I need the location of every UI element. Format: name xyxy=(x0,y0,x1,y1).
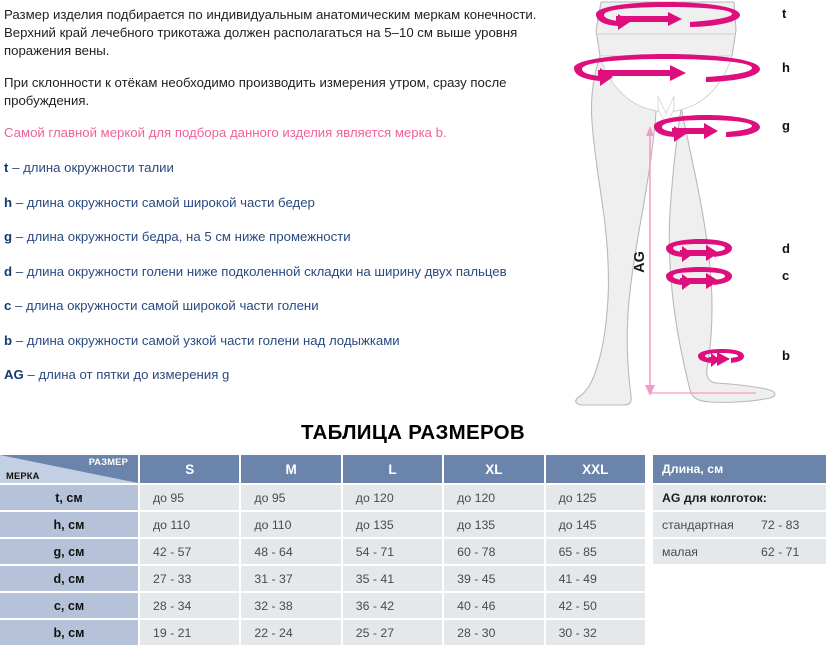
legend-dash-b: – xyxy=(16,333,23,348)
cell-c-xxl: 42 - 50 xyxy=(544,591,645,618)
table-row: g, см 42 - 57 48 - 64 54 - 71 60 - 78 65… xyxy=(0,537,645,564)
column-header-l: L xyxy=(341,455,442,483)
legend-dash-h: – xyxy=(16,195,23,210)
cell-t-s: до 95 xyxy=(138,483,239,510)
legend-text-c: длина окружности самой широкой части гол… xyxy=(26,298,319,313)
length-table-header-row: Длина, см xyxy=(653,455,826,483)
cell-h-l: до 135 xyxy=(341,510,442,537)
legend-text-g: длина окружности бедра, на 5 см ниже про… xyxy=(27,229,351,244)
cell-c-xl: 40 - 46 xyxy=(442,591,543,618)
legend-text-ag: длина от пятки до измерения g xyxy=(38,367,229,382)
illustration-label-t: t xyxy=(782,6,786,21)
illustration-label-h: h xyxy=(782,60,790,75)
cell-g-xxl: 65 - 85 xyxy=(544,537,645,564)
intro-paragraph-2: При склонности к отёкам необходимо произ… xyxy=(4,74,582,110)
corner-size-label: РАЗМЕР xyxy=(89,457,128,467)
illustration-label-b: b xyxy=(782,348,790,363)
cell-b-m: 22 - 24 xyxy=(239,618,340,645)
table-row: b, см 19 - 21 22 - 24 25 - 27 28 - 30 30… xyxy=(0,618,645,645)
legend-text-d: длина окружности голени ниже подколенной… xyxy=(27,264,507,279)
cell-t-xl: до 120 xyxy=(442,483,543,510)
table-row: h, см до 110 до 110 до 135 до 135 до 145 xyxy=(0,510,645,537)
cell-t-xxl: до 125 xyxy=(544,483,645,510)
legend-item-t: t – длина окружности талии xyxy=(4,160,592,176)
row-label-b: b, см xyxy=(0,618,138,645)
legend-dash-ag: – xyxy=(27,367,34,382)
legend-item-d: d – длина окружности голени ниже подколе… xyxy=(4,264,592,280)
table-row: d, см 27 - 33 31 - 37 35 - 41 39 - 45 41… xyxy=(0,564,645,591)
cell-b-xxl: 30 - 32 xyxy=(544,618,645,645)
cell-b-xl: 28 - 30 xyxy=(442,618,543,645)
length-row-small-name: малая xyxy=(653,537,757,564)
table-header-row: РАЗМЕР МЕРКА S M L XL XXL xyxy=(0,455,645,483)
cell-g-s: 42 - 57 xyxy=(138,537,239,564)
cell-d-xxl: 41 - 49 xyxy=(544,564,645,591)
measure-arrow-g xyxy=(654,115,760,142)
cell-c-s: 28 - 34 xyxy=(138,591,239,618)
length-table-row: AG для колготок: xyxy=(653,483,826,510)
length-row-standard-value: 72 - 83 xyxy=(757,510,826,537)
leg-measurement-illustration: AG xyxy=(560,0,826,412)
page-title: ТАБЛИЦА РАЗМЕРОВ xyxy=(0,421,826,445)
column-header-xxl: XXL xyxy=(544,455,645,483)
legend-dash-g: – xyxy=(16,229,23,244)
intro-paragraph-highlight: Самой главной меркой для подбора данного… xyxy=(4,124,582,142)
cell-h-xxl: до 145 xyxy=(544,510,645,537)
length-row-standard-name: стандартная xyxy=(653,510,757,537)
column-header-m: M xyxy=(239,455,340,483)
legend-item-b: b – длина окружности самой узкой части г… xyxy=(4,333,592,349)
intro-paragraph-1: Размер изделия подбирается по индивидуал… xyxy=(4,6,582,60)
length-table-header: Длина, см xyxy=(653,455,826,483)
legend-key-g: g xyxy=(4,229,12,244)
legend-text-h: длина окружности самой широкой части бед… xyxy=(27,195,315,210)
cell-b-l: 25 - 27 xyxy=(341,618,442,645)
legend-item-h: h – длина окружности самой широкой части… xyxy=(4,195,592,211)
row-label-d: d, см xyxy=(0,564,138,591)
info-section: Размер изделия подбирается по индивидуал… xyxy=(0,0,826,412)
cell-t-l: до 120 xyxy=(341,483,442,510)
legend-key-b: b xyxy=(4,333,12,348)
cell-d-xl: 39 - 45 xyxy=(442,564,543,591)
legend-dash-d: – xyxy=(16,264,23,279)
legend-item-g: g – длина окружности бедра, на 5 см ниже… xyxy=(4,229,592,245)
illustration-label-d: d xyxy=(782,241,790,256)
legend-text-b: длина окружности самой узкой части голен… xyxy=(27,333,400,348)
cell-t-m: до 95 xyxy=(239,483,340,510)
legend-key-c: c xyxy=(4,298,11,313)
length-table: Длина, см AG для колготок: стандартная 7… xyxy=(653,455,826,564)
table-row: c, см 28 - 34 32 - 38 36 - 42 40 - 46 42… xyxy=(0,591,645,618)
measurement-legend-list: t – длина окружности талии h – длина окр… xyxy=(4,160,592,383)
cell-g-m: 48 - 64 xyxy=(239,537,340,564)
table-row: t, см до 95 до 95 до 120 до 120 до 125 xyxy=(0,483,645,510)
column-header-xl: XL xyxy=(442,455,543,483)
legend-dash-t: – xyxy=(12,160,19,175)
row-label-g: g, см xyxy=(0,537,138,564)
text-column: Размер изделия подбирается по индивидуал… xyxy=(0,0,600,402)
cell-h-m: до 110 xyxy=(239,510,340,537)
column-header-s: S xyxy=(138,455,239,483)
length-table-row: стандартная 72 - 83 xyxy=(653,510,826,537)
row-label-t: t, см xyxy=(0,483,138,510)
cell-h-s: до 110 xyxy=(138,510,239,537)
legend-text-t: длина окружности талии xyxy=(23,160,174,175)
cell-c-l: 36 - 42 xyxy=(341,591,442,618)
cell-g-xl: 60 - 78 xyxy=(442,537,543,564)
corner-measure-label: МЕРКА xyxy=(6,471,40,481)
cell-d-m: 31 - 37 xyxy=(239,564,340,591)
cell-d-l: 35 - 41 xyxy=(341,564,442,591)
length-table-row: малая 62 - 71 xyxy=(653,537,826,564)
cell-g-l: 54 - 71 xyxy=(341,537,442,564)
row-label-c: c, см xyxy=(0,591,138,618)
length-row-small-value: 62 - 71 xyxy=(757,537,826,564)
length-table-subheader: AG для колготок: xyxy=(653,483,826,510)
table-corner-header: РАЗМЕР МЕРКА xyxy=(0,455,138,483)
legend-item-c: c – длина окружности самой широкой части… xyxy=(4,298,592,314)
ag-dimension-label: AG xyxy=(632,251,648,273)
row-label-h: h, см xyxy=(0,510,138,537)
legend-key-h: h xyxy=(4,195,12,210)
size-table: РАЗМЕР МЕРКА S M L XL XXL t, см до 95 до… xyxy=(0,455,645,645)
illustration-label-c: c xyxy=(782,268,789,283)
legend-key-ag: AG xyxy=(4,367,24,382)
legend-item-ag: AG – длина от пятки до измерения g xyxy=(4,367,592,383)
cell-c-m: 32 - 38 xyxy=(239,591,340,618)
illustration-label-g: g xyxy=(782,118,790,133)
cell-b-s: 19 - 21 xyxy=(138,618,239,645)
legend-key-t: t xyxy=(4,160,8,175)
legend-key-d: d xyxy=(4,264,12,279)
legend-dash-c: – xyxy=(15,298,22,313)
cell-d-s: 27 - 33 xyxy=(138,564,239,591)
cell-h-xl: до 135 xyxy=(442,510,543,537)
